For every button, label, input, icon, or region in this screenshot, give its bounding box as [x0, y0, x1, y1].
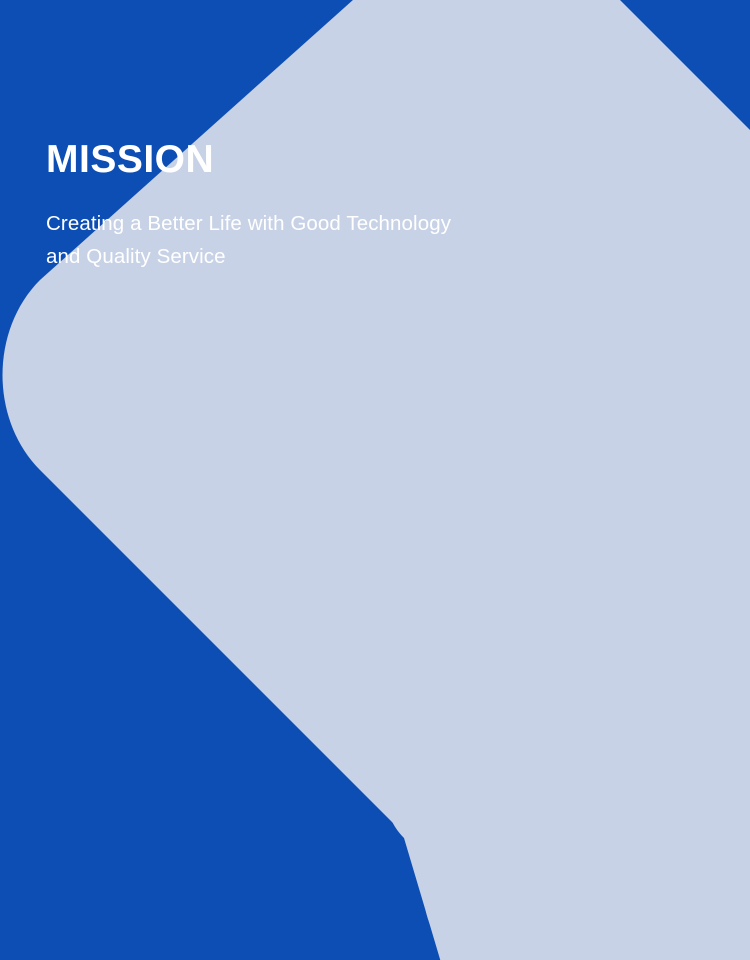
mission-poster: MISSION Creating a Better Life with Good…	[0, 0, 750, 960]
poster-artwork	[0, 0, 750, 960]
